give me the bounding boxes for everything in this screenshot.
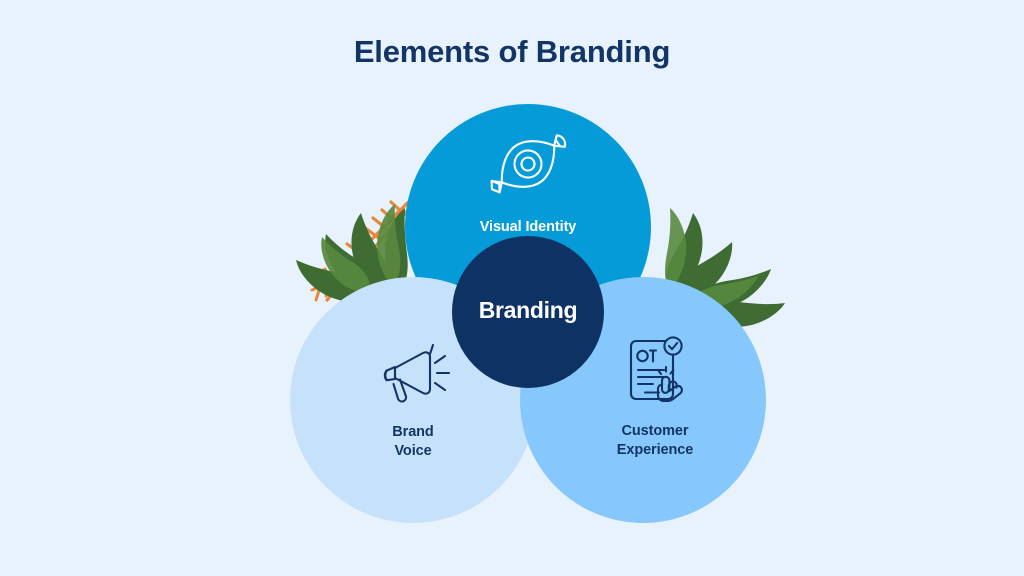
megaphone-icon bbox=[373, 340, 453, 410]
eye-pencil-icon bbox=[480, 124, 576, 204]
node-customer-experience[interactable]: Customer Experience bbox=[575, 336, 735, 459]
venn-diagram: Visual Identity bbox=[0, 0, 1024, 576]
mobile-tap-approved-icon bbox=[615, 336, 695, 410]
node-visual-identity[interactable]: Visual Identity bbox=[448, 124, 608, 237]
node-label-brand-voice: Brand Voice bbox=[392, 423, 433, 460]
infographic-canvas: Elements of Branding bbox=[0, 0, 1024, 576]
node-label-visual-identity: Visual Identity bbox=[480, 218, 577, 237]
node-label-branding: Branding bbox=[479, 296, 578, 325]
node-branding-core[interactable]: Branding bbox=[452, 296, 604, 325]
node-label-customer-experience: Customer Experience bbox=[617, 422, 693, 459]
